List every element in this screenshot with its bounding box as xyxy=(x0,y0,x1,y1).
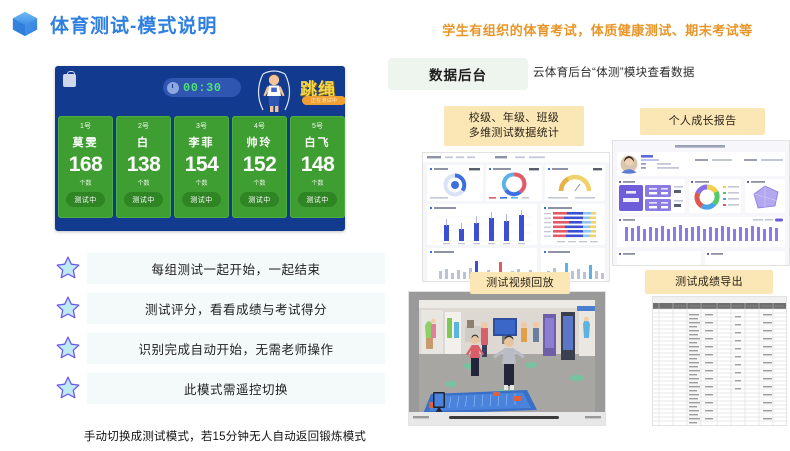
star-icon xyxy=(55,335,81,361)
card-name: 帅玲 xyxy=(247,134,273,150)
list-item: 每组测试一起开始，一起结束 xyxy=(55,248,385,288)
card-name: 莫雯 xyxy=(73,134,99,150)
lock-icon xyxy=(63,74,76,87)
card-unit: 个数 xyxy=(137,178,149,187)
label-score-export: 测试成绩导出 xyxy=(645,270,773,294)
device-screen-panel: 00:30 跳绳 正在测试中 1号 莫雯 xyxy=(55,66,345,231)
sport-status-badge: 正在测试中 xyxy=(302,96,345,105)
card-value: 168 xyxy=(69,154,103,175)
card-status: 测试中 xyxy=(182,192,221,207)
card-value: 138 xyxy=(127,154,161,175)
timer-value: 00:30 xyxy=(183,81,222,95)
feature-bullet-list: 每组测试一起开始，一起结束 测试评分，看看成绩与考试得分 识别完成自动开始，无需… xyxy=(55,248,385,408)
label-multi-dimension-stats: 校级、年级、班级 多维测试数据统计 xyxy=(444,106,584,146)
student-card: 3号 李菲 154 个数 测试中 xyxy=(174,116,229,218)
card-number: 2号 xyxy=(138,121,149,131)
card-value: 152 xyxy=(243,154,277,175)
card-number: 4号 xyxy=(254,121,265,131)
report-thumbnail xyxy=(613,141,789,265)
card-unit: 个数 xyxy=(79,178,91,187)
student-card: 1号 莫雯 168 个数 测试中 xyxy=(58,116,113,218)
spreadsheet-thumbnail xyxy=(653,297,786,425)
student-score-cards: 1号 莫雯 168 个数 测试中 2号 白 138 个数 测试中 3号 李菲 1… xyxy=(58,116,345,218)
card-number: 5号 xyxy=(312,121,323,131)
card-name: 李菲 xyxy=(189,134,215,150)
card-value: 148 xyxy=(301,154,335,175)
label-line-2: 多维测试数据统计 xyxy=(469,126,559,141)
card-name: 白 xyxy=(137,134,150,150)
clock-icon xyxy=(167,82,179,94)
data-backend-chip-label: 数据后台 xyxy=(429,64,487,84)
personal-growth-report[interactable] xyxy=(612,140,790,266)
countdown-timer: 00:30 xyxy=(163,78,241,97)
card-unit: 个数 xyxy=(311,178,323,187)
list-item: 此模式需遥控切换 xyxy=(55,368,385,408)
card-number: 3号 xyxy=(196,121,207,131)
score-export-spreadsheet[interactable] xyxy=(652,296,787,426)
star-icon xyxy=(55,295,81,321)
right-headline: 学生有组织的体育考试，体质健康测试、期末考试等 xyxy=(410,20,785,39)
student-card: 5号 白飞 148 个数 测试中 xyxy=(290,116,345,218)
label-personal-growth-report: 个人成长报告 xyxy=(640,108,765,135)
card-unit: 个数 xyxy=(195,178,207,187)
card-number: 1号 xyxy=(80,121,91,131)
bullet-text: 每组测试一起开始，一起结束 xyxy=(87,253,385,284)
video-thumbnail xyxy=(409,292,605,425)
data-backend-chip: 数据后台 xyxy=(388,58,528,90)
label-test-video-playback: 测试视频回放 xyxy=(470,272,570,294)
card-unit: 个数 xyxy=(253,178,265,187)
dashboard-thumbnail xyxy=(423,153,609,281)
bullet-caption: 手动切换成测试模式，若15分钟无人自动返回锻炼模式 xyxy=(55,428,395,444)
star-icon xyxy=(55,255,81,281)
bullet-text: 识别完成自动开始，无需老师操作 xyxy=(87,333,385,364)
star-icon xyxy=(55,375,81,401)
card-value: 154 xyxy=(185,154,219,175)
bullet-text: 此模式需遥控切换 xyxy=(87,373,385,404)
list-item: 识别完成自动开始，无需老师操作 xyxy=(55,328,385,368)
slide-header: 体育测试-模式说明 xyxy=(10,10,217,38)
multi-dimension-statistics-dashboard[interactable] xyxy=(422,152,610,282)
device-top-bar: 00:30 跳绳 正在测试中 xyxy=(55,66,345,114)
student-card: 4号 帅玲 152 个数 测试中 xyxy=(232,116,287,218)
card-status: 测试中 xyxy=(66,192,105,207)
jump-rope-athlete-icon xyxy=(251,68,297,114)
card-status: 测试中 xyxy=(240,192,279,207)
data-backend-subtitle: 云体育后台“体测”模块查看数据 xyxy=(533,64,695,80)
list-item: 测试评分，看看成绩与考试得分 xyxy=(55,288,385,328)
page-title: 体育测试-模式说明 xyxy=(50,11,217,38)
card-status: 测试中 xyxy=(124,192,163,207)
student-card: 2号 白 138 个数 测试中 xyxy=(116,116,171,218)
card-name: 白飞 xyxy=(305,134,331,150)
bullet-text: 测试评分，看看成绩与考试得分 xyxy=(87,293,385,324)
cube-logo-icon xyxy=(10,10,40,38)
card-status: 测试中 xyxy=(298,192,337,207)
slide-root: 体育测试-模式说明 00:30 xyxy=(0,0,790,451)
test-video-playback[interactable] xyxy=(408,291,606,426)
label-line-1: 校级、年级、班级 xyxy=(469,111,559,126)
